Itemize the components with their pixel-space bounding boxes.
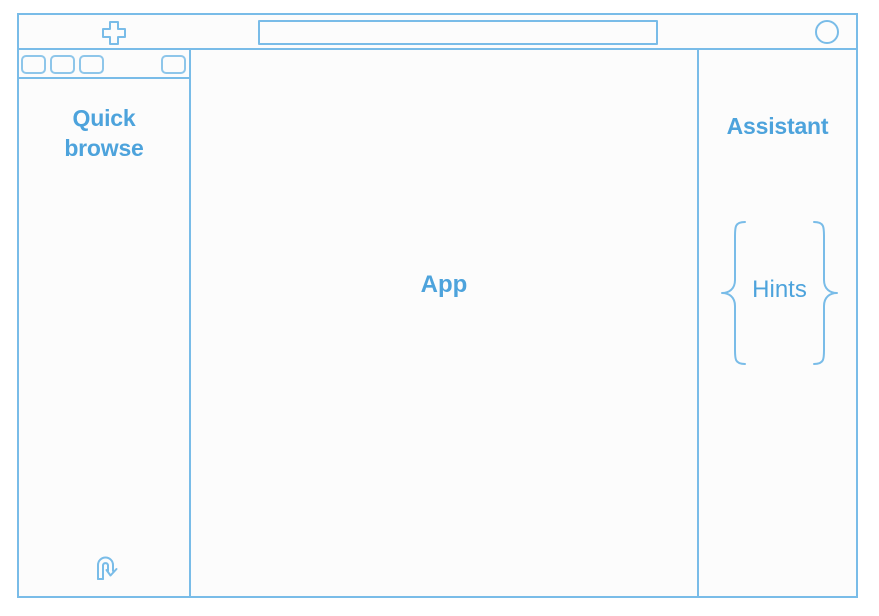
u-turn-back-icon[interactable] <box>92 552 124 582</box>
sidebar-quick-browse: Quick browse <box>19 79 191 596</box>
hints-label: Hints <box>713 276 846 304</box>
assistant-panel: Assistant Hints <box>699 50 856 596</box>
hints-group: Hints <box>713 218 846 368</box>
sidebar-title-line-2: browse <box>19 134 189 164</box>
app-canvas[interactable]: App <box>191 50 699 596</box>
app-label: App <box>191 271 697 299</box>
sidebar-title-line-1: Quick <box>19 104 189 134</box>
content-columns: Quick browse App Assistant <box>19 50 856 596</box>
assistant-title: Assistant <box>699 113 856 140</box>
wireframe-window: Quick browse App Assistant <box>17 13 858 598</box>
circle-avatar-icon[interactable] <box>814 19 840 45</box>
plus-icon[interactable] <box>99 19 129 47</box>
search-input[interactable] <box>258 20 658 45</box>
sidebar-title: Quick browse <box>19 104 189 164</box>
header-bar <box>19 15 856 50</box>
